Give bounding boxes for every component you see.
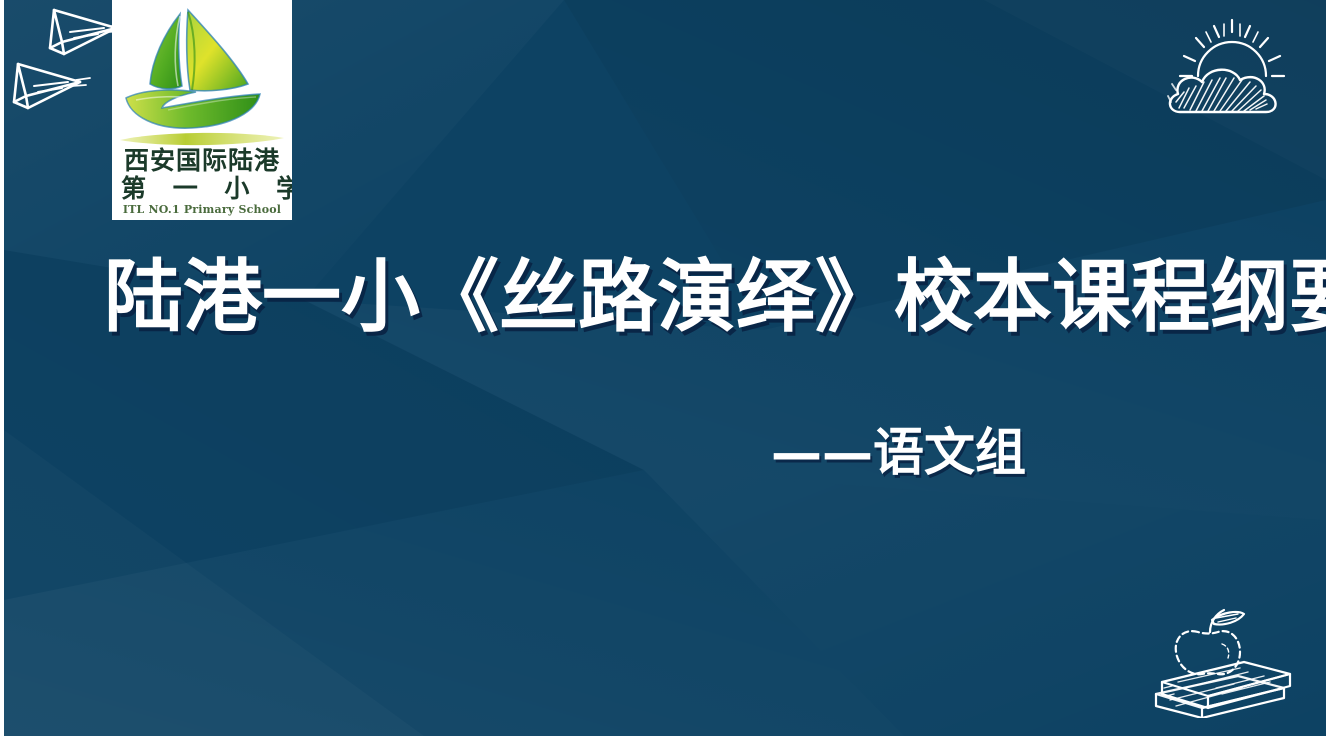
sun-behind-cloud-doodle (1162, 14, 1302, 124)
school-wordmark: 西安国际陆港 第 一 小 学 ITL NO.1 Primary School (112, 148, 292, 215)
school-logo-panel: 西安国际陆港 第 一 小 学 ITL NO.1 Primary School (112, 0, 292, 220)
paper-planes-doodle (12, 2, 124, 124)
wordmark-line-1: 西安国际陆港 (112, 148, 292, 173)
apple-on-books-doodle (1144, 596, 1294, 718)
wordmark-line-3-english: ITL NO.1 Primary School (112, 204, 292, 215)
presentation-slide: 西安国际陆港 第 一 小 学 ITL NO.1 Primary School 陆… (0, 0, 1326, 744)
slide-subtitle: ——语文组 (4, 428, 1026, 479)
slide-title: 陆港一小《丝路演绎》校本课程纲要 (104, 258, 1244, 337)
slide-canvas: 西安国际陆港 第 一 小 学 ITL NO.1 Primary School 陆… (4, 0, 1326, 736)
green-sailboat-logo-icon (116, 4, 288, 150)
wordmark-line-2: 第 一 小 学 (112, 176, 292, 201)
